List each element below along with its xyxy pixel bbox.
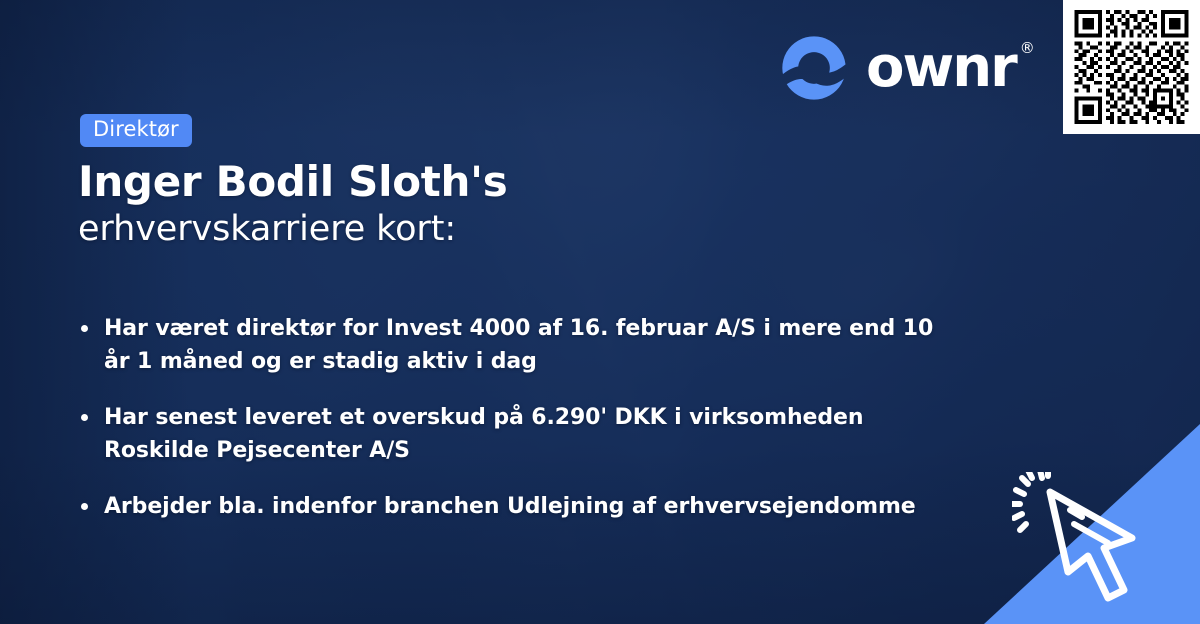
bullet-dot-icon <box>81 325 88 332</box>
corner-accent <box>984 424 1200 624</box>
career-facts-list: Har været direktør for Invest 4000 af 16… <box>78 312 958 523</box>
page-title: Inger Bodil Sloth's erhvervskarriere kor… <box>78 158 798 253</box>
click-cursor-icon <box>1012 472 1172 622</box>
bullet-dot-icon <box>81 414 88 421</box>
ownr-circle-swoosh-icon <box>778 32 850 104</box>
card-content: Direktør Inger Bodil Sloth's erhvervskar… <box>0 0 1200 624</box>
list-item-text: Arbejder bla. indenfor branchen Udlejnin… <box>104 494 916 519</box>
role-badge: Direktør <box>80 114 192 147</box>
list-item-text: Har været direktør for Invest 4000 af 16… <box>104 316 933 374</box>
list-item-text: Har senest leveret et overskud på 6.290'… <box>104 405 863 463</box>
brand-wordmark-text: ownr <box>866 35 1016 100</box>
list-item: Arbejder bla. indenfor branchen Udlejnin… <box>78 490 958 523</box>
brand-logo[interactable]: ownr ® <box>778 32 1016 104</box>
corner-triangle <box>984 424 1200 624</box>
career-card: Direktør Inger Bodil Sloth's erhvervskar… <box>0 0 1200 624</box>
headline-name: Inger Bodil Sloth's <box>78 158 798 205</box>
registered-trademark-icon: ® <box>1020 41 1035 56</box>
qr-code[interactable] <box>1063 0 1200 134</box>
qr-code-icon <box>1073 10 1190 124</box>
list-item: Har været direktør for Invest 4000 af 16… <box>78 312 958 379</box>
list-item: Har senest leveret et overskud på 6.290'… <box>78 401 958 468</box>
brand-wordmark: ownr ® <box>866 40 1016 96</box>
headline-subtitle: erhvervskarriere kort: <box>78 207 798 253</box>
bullet-dot-icon <box>81 503 88 510</box>
